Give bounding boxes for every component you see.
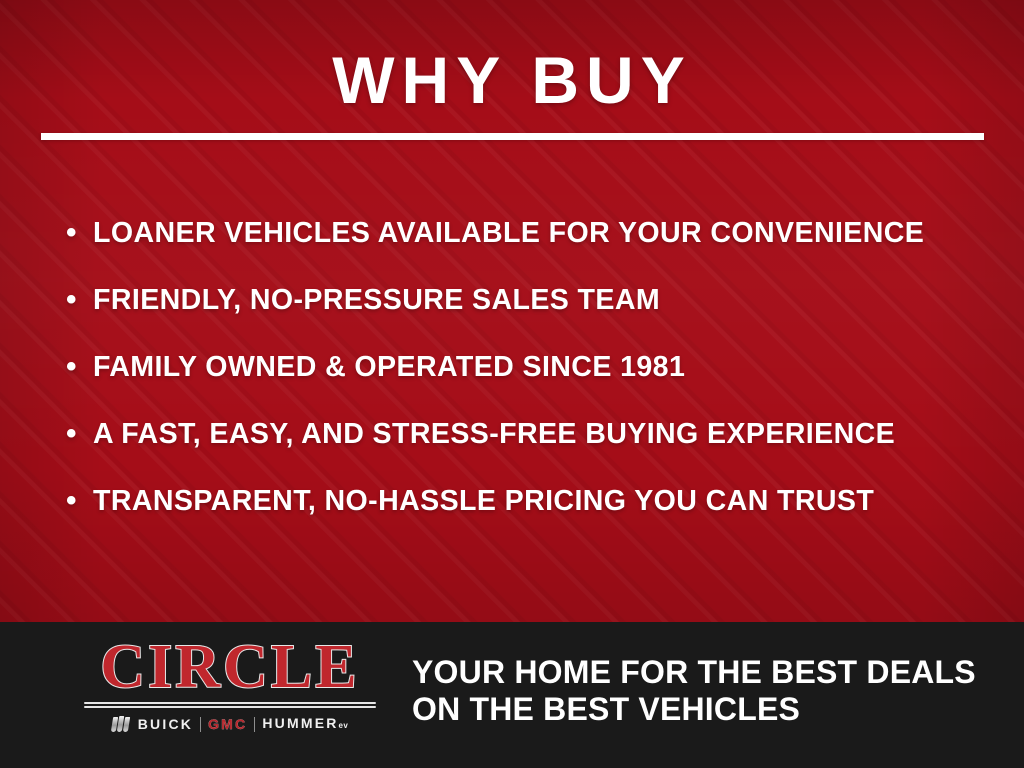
list-item-label: A FAST, EASY, AND STRESS-FREE BUYING EXP…	[93, 417, 973, 451]
bullet-dot-icon: •	[66, 218, 93, 248]
page-title: WHY BUY	[0, 44, 1024, 116]
bullet-dot-icon: •	[66, 419, 93, 449]
brand-separator-icon	[200, 717, 201, 732]
list-item: • FRIENDLY, NO-PRESSURE SALES TEAM	[66, 283, 986, 350]
footer-tagline: YOUR HOME FOR THE BEST DEALS ON THE BEST…	[412, 654, 976, 728]
list-item: • FAMILY OWNED & OPERATED SINCE 1981	[66, 350, 986, 417]
list-item: • TRANSPARENT, NO-HASSLE PRICING YOU CAN…	[66, 484, 986, 551]
bullet-dot-icon: •	[66, 486, 93, 516]
brand-label-hummer-suffix: ev	[339, 721, 349, 730]
brand-label-gmc: GMC	[208, 717, 247, 732]
logo-double-rule	[82, 702, 378, 708]
title-divider-rule	[41, 133, 984, 140]
dealer-logo: CIRCLE BUICK GMC HUMMERev	[82, 636, 378, 733]
list-item-label: TRANSPARENT, NO-HASSLE PRICING YOU CAN T…	[93, 484, 973, 518]
bullet-dot-icon: •	[66, 285, 93, 315]
benefits-list: • LOANER VEHICLES AVAILABLE FOR YOUR CON…	[66, 216, 986, 551]
list-item-label: FRIENDLY, NO-PRESSURE SALES TEAM	[93, 283, 973, 317]
brand-lockup-row: BUICK GMC HUMMERev	[82, 715, 378, 733]
brand-label-hummer: HUMMER	[262, 715, 338, 731]
brand-label-buick: BUICK	[138, 717, 193, 732]
footer-tagline-line2: ON THE BEST VEHICLES	[412, 691, 976, 728]
logo-rule-bottom	[84, 706, 376, 708]
buick-trishield-icon	[112, 716, 129, 732]
dealer-logo-wordmark: CIRCLE	[82, 636, 378, 698]
brand-separator-icon	[254, 717, 255, 732]
footer-tagline-line1: YOUR HOME FOR THE BEST DEALS	[412, 654, 976, 691]
footer-bar: CIRCLE BUICK GMC HUMMERev YOUR HOME FOR …	[0, 622, 1024, 768]
list-item: • LOANER VEHICLES AVAILABLE FOR YOUR CON…	[66, 216, 986, 283]
why-buy-slide: WHY BUY • LOANER VEHICLES AVAILABLE FOR …	[0, 0, 1024, 768]
list-item-label: FAMILY OWNED & OPERATED SINCE 1981	[93, 350, 973, 384]
brand-label-hummer-ev: HUMMERev	[262, 716, 348, 733]
bullet-dot-icon: •	[66, 352, 93, 382]
list-item: • A FAST, EASY, AND STRESS-FREE BUYING E…	[66, 417, 986, 484]
list-item-label: LOANER VEHICLES AVAILABLE FOR YOUR CONVE…	[93, 216, 973, 250]
logo-rule-top	[84, 702, 376, 704]
